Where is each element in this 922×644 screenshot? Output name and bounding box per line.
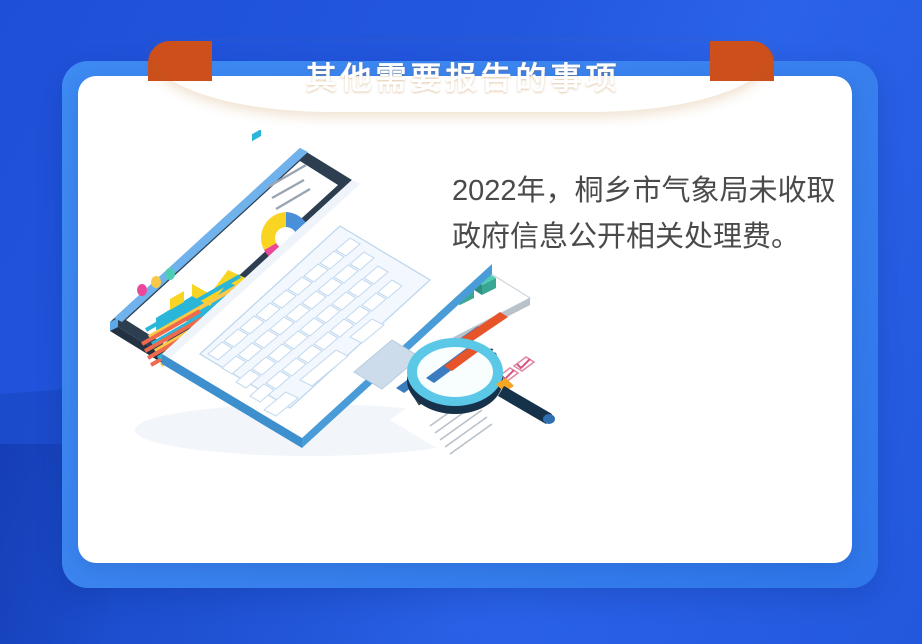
report-paragraph: 2022年，桐乡市气象局未收取政府信息公开相关处理费。 <box>452 168 852 260</box>
content-card: BUSSINESS <box>78 76 852 563</box>
poster-stage: BUSSINESS <box>0 0 922 644</box>
